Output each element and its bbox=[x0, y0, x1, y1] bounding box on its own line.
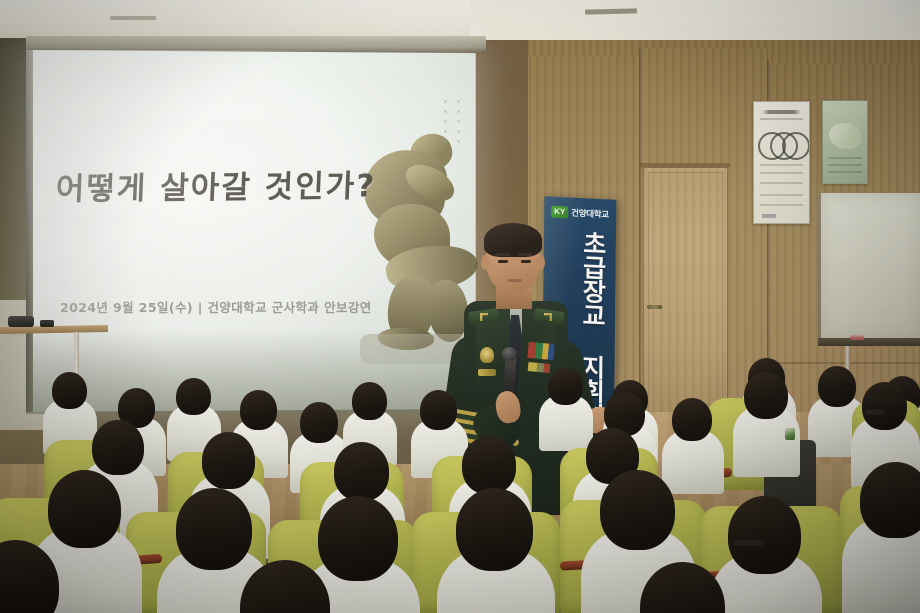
slide-dot bbox=[457, 130, 460, 133]
officer-eyebrow-right bbox=[518, 253, 533, 256]
wall-seam-horizontal bbox=[768, 362, 920, 364]
whiteboard-eraser-icon[interactable] bbox=[850, 334, 864, 340]
green-poster-line-3 bbox=[828, 171, 862, 173]
ceiling-vent-secondary-icon bbox=[110, 16, 156, 20]
audience-head bbox=[456, 488, 533, 571]
officer-hair bbox=[484, 223, 542, 257]
officer-nameplate-icon bbox=[478, 369, 496, 376]
audience-head bbox=[318, 496, 398, 581]
slide-headline: 어떻게 살아갈 것인가? bbox=[55, 160, 377, 208]
table-object-2 bbox=[40, 320, 54, 327]
officer-eye-right bbox=[521, 260, 531, 263]
door-handle-icon[interactable] bbox=[647, 305, 662, 309]
audience-head bbox=[462, 436, 516, 494]
audience-head bbox=[672, 398, 712, 441]
slide-dot bbox=[444, 140, 447, 143]
whiteboard bbox=[818, 193, 920, 341]
poster-title-line bbox=[762, 110, 801, 114]
audience-head bbox=[862, 382, 907, 430]
room-door[interactable] bbox=[643, 167, 728, 427]
audience-head bbox=[744, 372, 788, 419]
poster-footer-logo-icon bbox=[762, 214, 776, 218]
microphone-head-icon bbox=[502, 347, 517, 361]
officer-ribbon-rack-secondary bbox=[528, 362, 551, 373]
white-poster bbox=[753, 101, 810, 224]
audience-head bbox=[860, 462, 920, 538]
audience-head bbox=[176, 378, 211, 415]
poster-table-row-3 bbox=[760, 182, 803, 184]
slide-subtitle: 2024년 9월 25일(수) | 건양대학교 군사학과 안보강연 bbox=[60, 297, 372, 316]
audience-head bbox=[48, 470, 121, 548]
audience-head bbox=[52, 372, 87, 409]
audience-head bbox=[300, 402, 338, 443]
audience-head bbox=[240, 390, 277, 430]
audience-head bbox=[728, 496, 801, 574]
audience-head bbox=[600, 470, 675, 550]
audience-head bbox=[420, 390, 457, 430]
audience-shoulder-patch-icon bbox=[785, 428, 795, 440]
audience-glasses-icon bbox=[733, 540, 764, 546]
green-poster bbox=[822, 100, 868, 184]
slide-dot bbox=[457, 120, 460, 123]
poster-table-row-1 bbox=[760, 164, 803, 166]
audience-head bbox=[818, 366, 856, 407]
officer-mouth bbox=[508, 279, 522, 282]
slide-dot bbox=[457, 100, 460, 103]
audience-head bbox=[176, 488, 252, 570]
slide-dot bbox=[444, 100, 447, 103]
slide-dot bbox=[457, 140, 460, 143]
slide-dot bbox=[444, 110, 447, 113]
officer-ear-left bbox=[481, 255, 490, 270]
audience-head bbox=[548, 368, 583, 405]
poster-subtitle-line bbox=[760, 118, 803, 120]
door-panel-inset bbox=[648, 172, 723, 426]
officer-ribbon-rack bbox=[527, 342, 554, 360]
slide-dot-grid-decoration bbox=[444, 100, 474, 146]
officer-eyebrow-left bbox=[495, 253, 510, 256]
green-poster-graphic bbox=[829, 123, 861, 149]
poster-table-row-4 bbox=[760, 194, 803, 196]
slide-dot bbox=[457, 110, 460, 113]
poster-table-row-5 bbox=[760, 204, 803, 206]
green-poster-line-2 bbox=[828, 164, 862, 166]
table-object-1 bbox=[8, 316, 34, 327]
slide-dot bbox=[444, 130, 447, 133]
whiteboard-tray bbox=[818, 338, 920, 346]
poster-table-row-2 bbox=[760, 172, 803, 174]
auditorium-photo: 어떻게 살아갈 것인가? 2024년 9월 25일(수) | 건양대학교 군사학… bbox=[0, 0, 920, 613]
audience-head bbox=[334, 442, 389, 501]
officer-ear-right bbox=[536, 255, 545, 270]
green-poster-line-1 bbox=[828, 157, 862, 159]
audience-head bbox=[352, 382, 387, 420]
poster-circle-3 bbox=[782, 132, 810, 160]
audience-glasses-icon bbox=[865, 409, 885, 415]
officer-unit-badge-icon bbox=[480, 347, 494, 363]
officer-eye-left bbox=[498, 260, 508, 263]
slide-dot bbox=[444, 120, 447, 123]
audience-head bbox=[202, 432, 255, 489]
audience-head bbox=[92, 420, 144, 475]
